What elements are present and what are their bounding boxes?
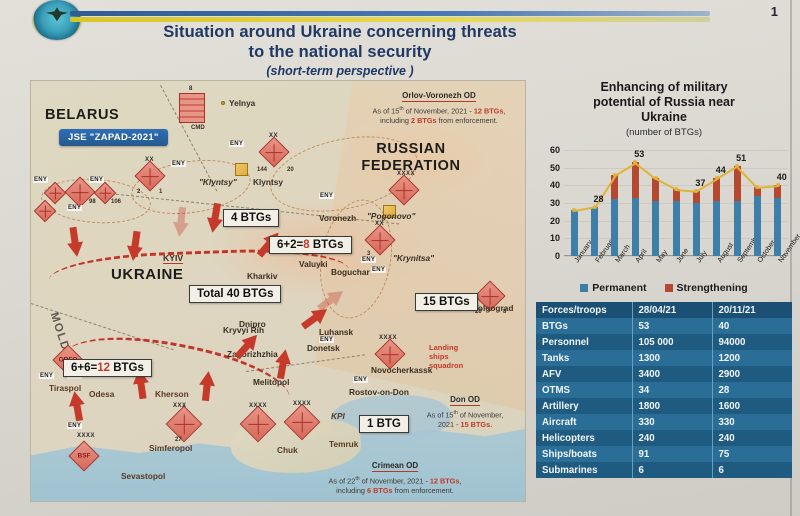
table-cell: 28 xyxy=(712,382,792,398)
map-unit-echelon: XXXX xyxy=(379,335,397,341)
table-row: Personnel105 00094000 xyxy=(536,334,792,350)
chart-title-line-2: potential of Russia near xyxy=(536,95,792,110)
chart-y-tick-label: 40 xyxy=(550,180,560,190)
table-cell: 6 xyxy=(632,462,712,478)
table-cell: 1200 xyxy=(712,350,792,366)
note-orlov-voronezh-od: Orlov-Voronezh OD As of 15th of November… xyxy=(351,85,526,125)
callout-highlight: 12 xyxy=(97,362,110,374)
table-row: Artillery18001600 xyxy=(536,398,792,414)
table-cell: 53 xyxy=(632,318,712,334)
map-city-simferopol: Simferopol xyxy=(149,443,192,453)
chart-bar-segment-permanent xyxy=(591,207,598,256)
map-city-klyntsy-alt: "Klyntsy" xyxy=(199,177,237,187)
table-cell: BTGs xyxy=(536,318,632,334)
map-city-voronezh: Voronezh xyxy=(319,213,356,223)
table-cell: 40 xyxy=(712,318,792,334)
map-unit-number: 144 xyxy=(257,167,267,173)
map-city-chuk: Chuk xyxy=(277,445,298,455)
map-eny-label: ENY xyxy=(229,141,244,147)
page-number: 1 xyxy=(771,4,778,19)
table-cell: 6 xyxy=(712,462,792,478)
table-header-cell: 28/04/21 xyxy=(632,302,712,318)
table-cell: Ships/boats xyxy=(536,446,632,462)
chart-bar-segment-permanent xyxy=(774,198,781,256)
table-header-cell: 20/11/21 xyxy=(712,302,792,318)
title-line-1: Situation around Ukraine concerning thre… xyxy=(120,22,560,42)
chart-y-tick-label: 0 xyxy=(555,251,560,261)
chart-trend-point xyxy=(755,185,759,189)
map-city-kryvyi-rih: Kryvyi Rih xyxy=(223,325,264,335)
map-city-temruk: Temruk xyxy=(329,439,358,449)
note-text: As of 15 xyxy=(427,410,454,419)
table-cell: 3400 xyxy=(632,366,712,382)
table-cell: 330 xyxy=(712,414,792,430)
table-cell: 2900 xyxy=(712,366,792,382)
map-city-pogonovo: "Pogonovo" xyxy=(367,211,415,221)
note-body: As of 15th of November, 2021 - 12 BTGs, … xyxy=(351,105,526,125)
table-cell: Tanks xyxy=(536,350,632,366)
note-value: 12 BTGs xyxy=(474,106,504,115)
map-city-sevastopol: Sevastopol xyxy=(121,471,165,481)
map-unit-symbol-support xyxy=(235,163,248,176)
chart-legend-item-permanent[interactable]: Permanent xyxy=(580,282,646,294)
chart-bar-segment-permanent xyxy=(652,201,659,256)
chart-title-line-3: Ukraine xyxy=(536,110,792,125)
table-header-cell: Forces/troops xyxy=(536,302,632,318)
map-unit-label-cmd: CMD xyxy=(191,125,205,131)
title-line-2: to the national security xyxy=(120,42,560,62)
map-unit-echelon: 8 xyxy=(189,86,193,92)
map-eny-label: ENY xyxy=(361,257,376,263)
chart-y-tick-label: 60 xyxy=(550,145,560,155)
map-city-kherson: Kherson xyxy=(155,389,189,399)
chart-trend-point xyxy=(715,176,719,180)
map-city-boguchar: Boguchar xyxy=(331,267,370,277)
map-city-krynitsa: "Krynitsa" xyxy=(393,253,434,263)
map-eny-label: ENY xyxy=(171,161,186,167)
table-cell: Helicopters xyxy=(536,430,632,446)
table-cell: 240 xyxy=(632,430,712,446)
map-city-kyiv: KYIV xyxy=(163,253,183,264)
note-text: including xyxy=(380,116,411,125)
map-eny-label: ENY xyxy=(353,377,368,383)
map-unit-number: 3 xyxy=(367,251,370,257)
chart-trend-point xyxy=(593,205,597,209)
chart-legend-item-strengthening[interactable]: Strengthening xyxy=(665,282,748,294)
note-text: 2021 - xyxy=(438,420,461,429)
table-row: Aircraft330330 xyxy=(536,414,792,430)
note-text: from enforcement. xyxy=(437,116,498,125)
map-unit-echelon: XXXX xyxy=(77,433,95,439)
map-eny-label: ENY xyxy=(371,267,386,273)
chart-title: Enhancing of military potential of Russi… xyxy=(536,80,792,125)
table-row: AFV34002900 xyxy=(536,366,792,382)
chart-bar-segment-permanent xyxy=(734,201,741,256)
map-bsf-label: BSF xyxy=(78,453,91,460)
note-value: 6 BTGs xyxy=(367,486,393,495)
table-cell: 105 000 xyxy=(632,334,712,350)
map-city-odesa: Odesa xyxy=(89,389,114,399)
note-text: including xyxy=(336,486,367,495)
chart-bar-segment-permanent xyxy=(632,198,639,256)
map-city-dot xyxy=(221,101,225,105)
chart-trend-point xyxy=(613,173,617,177)
map-eny-label: ENY xyxy=(67,205,82,211)
table-cell: Artillery xyxy=(536,398,632,414)
note-don-od: Don OD As of 15th of November, 2021 - 15… xyxy=(409,389,521,429)
table-row: BTGs5340 xyxy=(536,318,792,334)
note-value: 12 BTGs xyxy=(430,476,460,485)
btg-bar-chart[interactable]: 0102030405060JanuaryFebruaryMarchAprilMa… xyxy=(536,144,792,256)
callout-15-btgs[interactable]: 15 BTGs xyxy=(415,293,478,311)
chart-data-label: 44 xyxy=(716,165,726,175)
table-row: Tanks13001200 xyxy=(536,350,792,366)
title-subtitle: (short-term perspective ) xyxy=(120,64,560,78)
chart-bar[interactable] xyxy=(754,150,761,256)
map-city-yelnya: Yelnya xyxy=(229,98,255,108)
callout-1-btg[interactable]: 1 BTG xyxy=(359,415,409,433)
map-eny-label: ENY xyxy=(33,177,48,183)
map-eny-label: ENY xyxy=(319,337,334,343)
chart-legend: PermanentStrengthening xyxy=(536,282,792,294)
map-unit-number: 2 xyxy=(137,189,140,195)
map-landing-ships-squadron-label: Landingshipssquadron xyxy=(429,343,463,370)
map-city-kharkiv: Kharkiv xyxy=(247,271,277,281)
note-text: As of 15 xyxy=(373,106,400,115)
chart-bar-segment-permanent xyxy=(673,201,680,256)
chart-legend-label: Permanent xyxy=(592,282,646,294)
slide-title: Situation around Ukraine concerning thre… xyxy=(120,22,560,78)
map-attack-arrow-up xyxy=(67,390,88,422)
callout-12-btgs[interactable]: 6+6=12 BTGs xyxy=(63,359,152,377)
table-cell: 1600 xyxy=(712,398,792,414)
map-unit-symbol xyxy=(179,93,205,123)
map-unit-number: 106 xyxy=(111,199,121,205)
header-stripe-blue xyxy=(70,11,710,16)
map-country-ukraine: UKRAINE xyxy=(111,266,184,283)
chart-legend-swatch xyxy=(580,284,588,292)
chart-trend-point xyxy=(735,164,739,168)
map-unit-number: 20 xyxy=(287,167,294,173)
map-city-volgograd: Volgograd xyxy=(473,303,513,313)
note-title: Don OD xyxy=(450,395,480,406)
map-eny-label: ENY xyxy=(39,373,54,379)
chart-bar[interactable] xyxy=(774,150,781,256)
right-panel: Enhancing of military potential of Russi… xyxy=(536,80,792,478)
chart-bar-segment-permanent xyxy=(754,196,761,256)
slide-page: 1 Situation around Ukraine concerning th… xyxy=(0,0,800,516)
note-value: 2 BTGs xyxy=(411,116,437,125)
table-row: Helicopters240240 xyxy=(536,430,792,446)
chart-data-label: 37 xyxy=(695,178,705,188)
map-unit-number: 98 xyxy=(89,199,96,205)
note-text: of November, 2021 - xyxy=(360,476,430,485)
chart-bar-segment-permanent xyxy=(693,203,700,256)
table-cell: 1300 xyxy=(632,350,712,366)
chart-title-line-1: Enhancing of military xyxy=(536,80,792,95)
map-country-belarus: BELARUS xyxy=(45,107,119,123)
chart-y-tick-label: 20 xyxy=(550,216,560,226)
chart-data-label: 40 xyxy=(777,172,787,182)
map-unit-number: 1 xyxy=(159,189,162,195)
map-eny-label: ENY xyxy=(319,193,334,199)
chart-legend-swatch xyxy=(665,284,673,292)
forces-comparison-table: Forces/troops28/04/2120/11/21BTGs5340Per… xyxy=(536,302,792,478)
chart-y-tick-label: 50 xyxy=(550,163,560,173)
callout-total-40-btgs[interactable]: Total 40 BTGs xyxy=(189,285,281,303)
map-unit-echelon: XX xyxy=(145,157,154,163)
chart-trend-point xyxy=(654,176,658,180)
chart-bar-segment-permanent xyxy=(611,199,618,256)
table-cell: 330 xyxy=(632,414,712,430)
map-city-novocherkassk: Novocherkassk xyxy=(371,365,432,375)
map-unit-echelon: XXX xyxy=(173,403,187,409)
table-cell: Submarines xyxy=(536,462,632,478)
note-value: 15 BTGs. xyxy=(461,420,493,429)
map-city-valuyki: Valuyki xyxy=(299,259,328,269)
map-city-donetsk: Donetsk xyxy=(307,343,340,353)
chart-bar[interactable] xyxy=(652,150,659,256)
table-row: Submarines66 xyxy=(536,462,792,478)
chart-data-label: 51 xyxy=(736,153,746,163)
situation-map[interactable]: BELARUS RUSSIAN FEDERATION UKRAINE MOLDO… xyxy=(30,80,526,502)
map-city-zaporizhzhia: Zaporizhzhia xyxy=(227,349,278,359)
table-cell: 91 xyxy=(632,446,712,462)
chart-bar-segment-permanent xyxy=(571,210,578,256)
table-cell: 240 xyxy=(712,430,792,446)
table-cell: AFV xyxy=(536,366,632,382)
table-cell: Personnel xyxy=(536,334,632,350)
map-kpi-label: KPI xyxy=(331,411,345,421)
chart-legend-label: Strengthening xyxy=(677,282,748,294)
table-cell: 34 xyxy=(632,382,712,398)
chart-trend-point xyxy=(674,187,678,191)
map-city-klyntsy: Klyntsy xyxy=(253,177,283,187)
map-unit-echelon: XX xyxy=(269,133,278,139)
table-cell: Aircraft xyxy=(536,414,632,430)
note-text: from enforcement. xyxy=(393,486,454,495)
table-header-row: Forces/troops28/04/2120/11/21 xyxy=(536,302,792,318)
callout-4-btgs[interactable]: 4 BTGs xyxy=(223,209,279,227)
table-row: OTMS3428 xyxy=(536,382,792,398)
chart-data-label: 53 xyxy=(634,149,644,159)
map-frontline-north xyxy=(48,246,350,316)
note-title: Crimean OD xyxy=(372,461,418,472)
chart-plot-area: 0102030405060JanuaryFebruaryMarchAprilMa… xyxy=(564,150,788,256)
note-text: of November, xyxy=(458,410,503,419)
table-cell: 94000 xyxy=(712,334,792,350)
map-unit-echelon: XXXX xyxy=(293,401,311,407)
map-city-tiraspol: Tiraspol xyxy=(49,383,81,393)
note-body: As of 22th of November, 2021 - 12 BTGs, … xyxy=(293,475,497,495)
table-cell: 1800 xyxy=(632,398,712,414)
chart-bar-segment-permanent xyxy=(713,201,720,256)
note-text: As of 22 xyxy=(329,476,356,485)
map-unit-echelon: XXXX xyxy=(397,171,415,177)
map-attack-arrow xyxy=(65,226,85,258)
chart-bar[interactable] xyxy=(673,150,680,256)
map-unit-echelon: XXXX xyxy=(249,403,267,409)
chart-data-label: 28 xyxy=(594,194,604,204)
map-eny-label: ENY xyxy=(67,423,82,429)
chart-trend-point xyxy=(572,208,576,212)
map-unit-echelon: XX xyxy=(375,221,384,227)
callout-highlight: 8 xyxy=(303,239,309,251)
chart-trend-point xyxy=(694,189,698,193)
chart-trend-point xyxy=(776,183,780,187)
chart-y-tick-label: 30 xyxy=(550,198,560,208)
callout-8-btgs[interactable]: 6+2=8 BTGs xyxy=(269,236,352,254)
note-text: of November, 2021 - xyxy=(404,106,474,115)
chart-subtitle: (number of BTGs) xyxy=(536,127,792,138)
chart-trend-point xyxy=(633,160,637,164)
chart-bar[interactable] xyxy=(571,150,578,256)
chart-y-tick-label: 10 xyxy=(550,233,560,243)
map-city-luhansk: Luhansk xyxy=(319,327,353,337)
table-cell: OTMS xyxy=(536,382,632,398)
map-city-rostov-on-don: Rostov-on-Don xyxy=(349,387,409,397)
chart-bar[interactable] xyxy=(611,150,618,256)
chart-bar-segment-strengthening xyxy=(632,162,639,197)
note-title: Orlov-Voronezh OD xyxy=(402,91,476,102)
map-exercise-tag: JSE "ZAPAD-2021" xyxy=(59,129,168,146)
note-crimean-od: Crimean OD As of 22th of November, 2021 … xyxy=(293,455,497,495)
map-eny-label: ENY xyxy=(89,177,104,183)
table-row: Ships/boats9175 xyxy=(536,446,792,462)
table-cell: 75 xyxy=(712,446,792,462)
map-country-russian-federation: RUSSIAN FEDERATION xyxy=(351,141,471,175)
chart-bar[interactable] xyxy=(693,150,700,256)
note-body: As of 15th of November, 2021 - 15 BTGs. xyxy=(409,409,521,429)
